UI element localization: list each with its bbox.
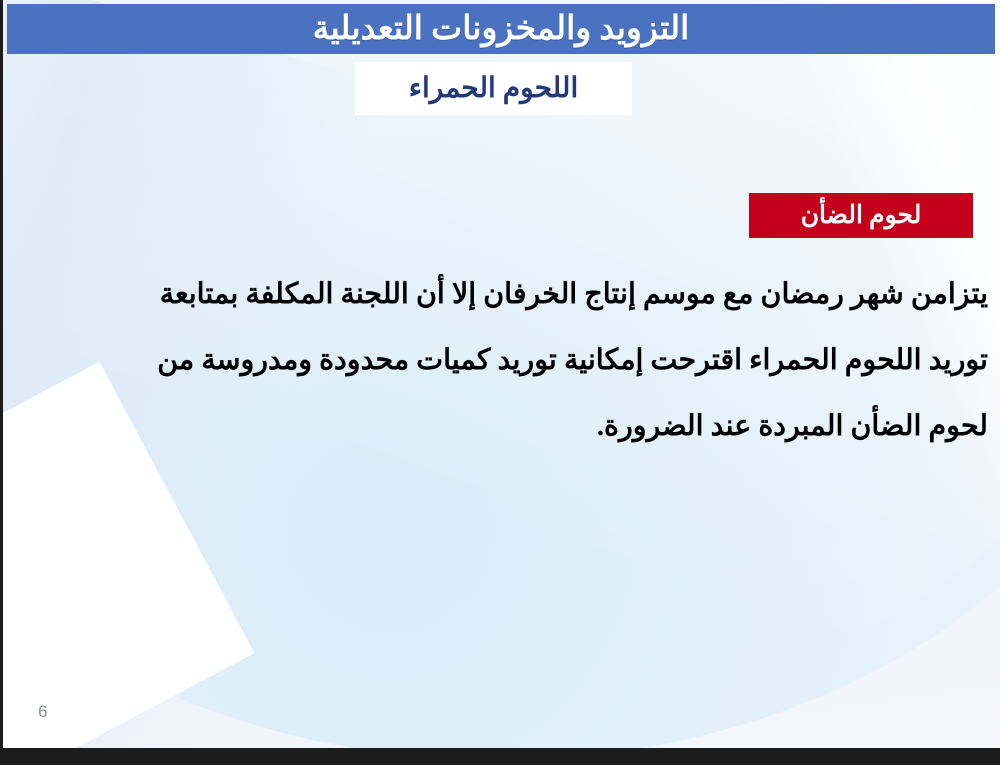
slide-title-banner: التزويد والمخزونات التعديلية xyxy=(7,4,995,54)
slide-left-border xyxy=(0,0,3,748)
presentation-slide: التزويد والمخزونات التعديلية اللحوم الحم… xyxy=(0,0,1000,765)
page-subtitle: اللحوم الحمراء xyxy=(409,75,578,103)
slide-subtitle-plate: اللحوم الحمراء xyxy=(355,62,632,115)
section-tag-badge: لحوم الضأن xyxy=(749,193,973,238)
slide-number: 6 xyxy=(38,702,47,722)
body-line-2: توريد اللحوم الحمراء اقترحت إمكانية توري… xyxy=(16,328,988,394)
body-paragraph: يتزامن شهر رمضان مع موسم إنتاج الخرفان إ… xyxy=(16,262,988,460)
slide-bottom-strip xyxy=(0,748,1000,765)
body-line-3: لحوم الضأن المبردة عند الضرورة. xyxy=(16,394,988,460)
body-line-1: يتزامن شهر رمضان مع موسم إنتاج الخرفان إ… xyxy=(16,262,988,328)
page-title: التزويد والمخزونات التعديلية xyxy=(313,13,690,46)
section-tag-label: لحوم الضأن xyxy=(801,203,922,228)
